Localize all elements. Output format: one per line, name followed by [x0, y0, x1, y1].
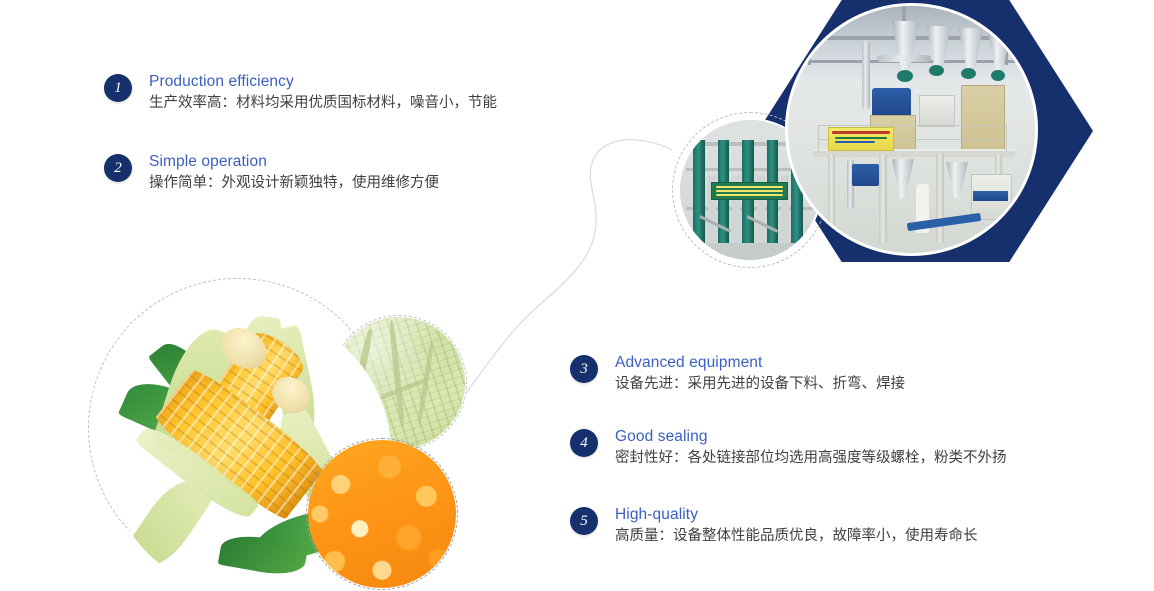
feature-description-2: 操作简单：外观设计新颖独特，使用维修方便 [149, 172, 439, 194]
feature-description-4: 密封性好：各处链接部位均选用高强度等级螺栓，粉类不外扬 [615, 447, 1007, 469]
feature-description-1: 生产效率高：材料均采用优质国标材料，噪音小，节能 [149, 92, 497, 114]
feature-item-3[interactable]: 3 Advanced equipment 设备先进：采用先进的设备下料、折弯、焊… [570, 353, 905, 395]
feature-badge-1: 1 [104, 74, 132, 102]
feature-title-2: Simple operation [149, 152, 439, 171]
factory-line-photo [785, 3, 1038, 256]
feature-title-3: Advanced equipment [615, 353, 905, 372]
feature-description-5: 高质量：设备整体性能品质优良，故障率小，使用寿命长 [615, 525, 978, 547]
hexagon-photo-cluster [660, 0, 1154, 270]
feature-title-1: Production efficiency [149, 72, 497, 91]
feature-badge-5: 5 [570, 507, 598, 535]
feature-badge-2: 2 [104, 154, 132, 182]
feature-title-4: Good sealing [615, 427, 1007, 446]
feature-title-5: High-quality [615, 505, 978, 524]
feature-item-2[interactable]: 2 Simple operation 操作简单：外观设计新颖独特，使用维修方便 [104, 152, 439, 194]
corn-photo-cluster [88, 278, 488, 591]
feature-item-1[interactable]: 1 Production efficiency 生产效率高：材料均采用优质国标材… [104, 72, 497, 114]
feature-badge-3: 3 [570, 355, 598, 383]
feature-item-4[interactable]: 4 Good sealing 密封性好：各处链接部位均选用高强度等级螺栓，粉类不… [570, 427, 1007, 469]
feature-item-5[interactable]: 5 High-quality 高质量：设备整体性能品质优良，故障率小，使用寿命长 [570, 505, 978, 547]
feature-badge-4: 4 [570, 429, 598, 457]
feature-description-3: 设备先进：采用先进的设备下料、折弯、焊接 [615, 373, 905, 395]
promo-infographic: 1 Production efficiency 生产效率高：材料均采用优质国标材… [0, 0, 1154, 591]
corn-grits-photo [308, 440, 456, 588]
